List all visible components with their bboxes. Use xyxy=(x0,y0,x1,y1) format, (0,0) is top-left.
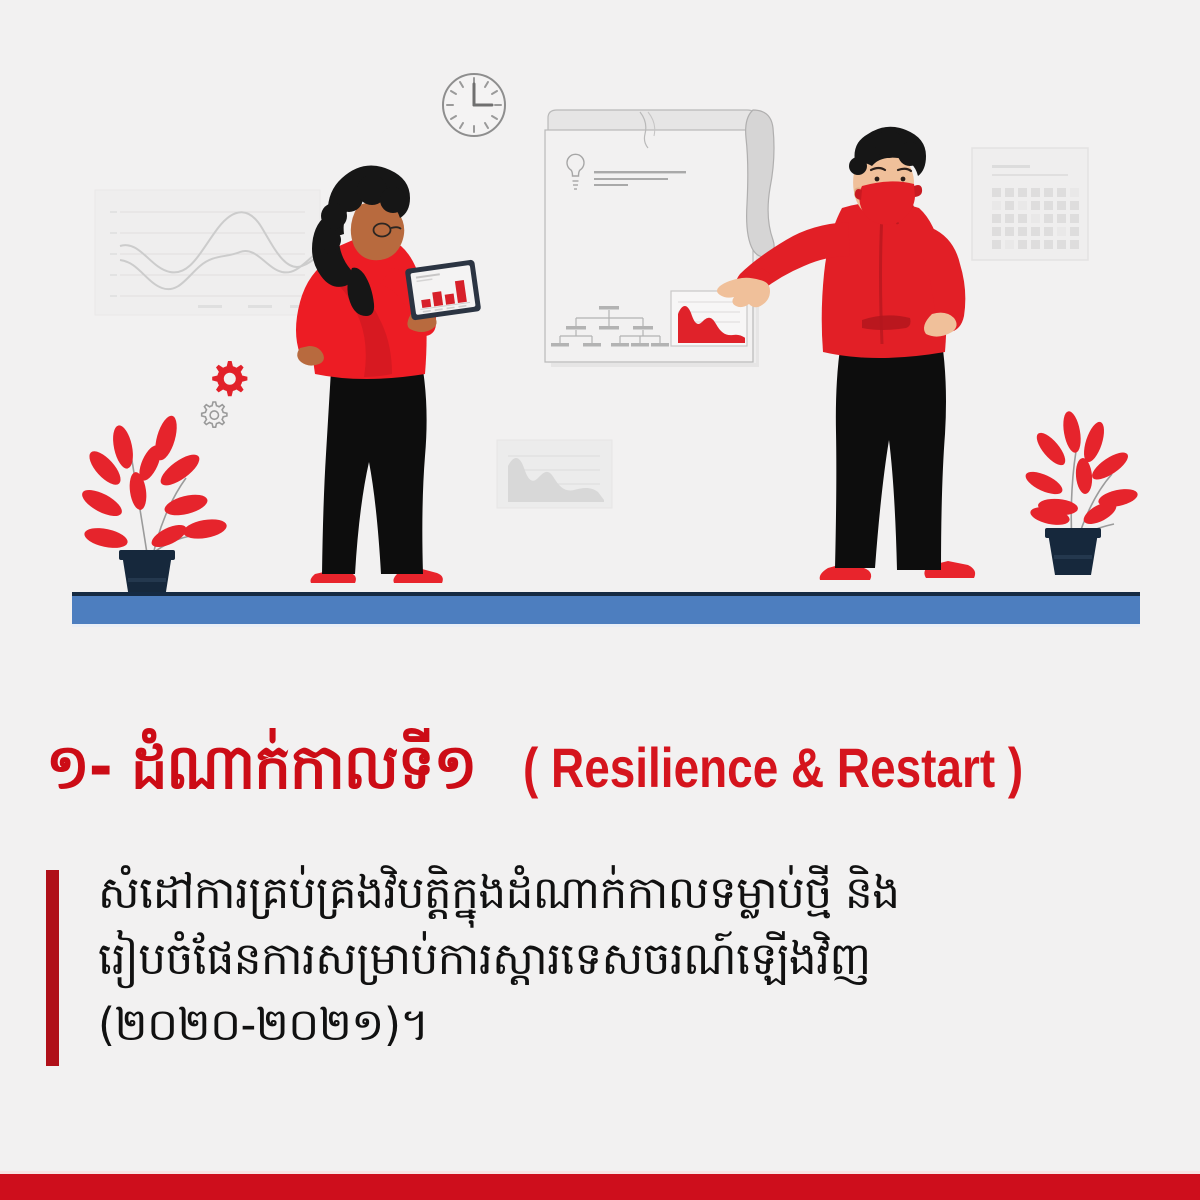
illustration-scene xyxy=(0,0,1200,660)
body-line-2: រៀបចំផែនការសម្រាប់ការស្តារទេសចរណ៍ឡើងវិញ xyxy=(98,926,1155,992)
accent-bar xyxy=(46,870,59,1066)
wall-clock-icon xyxy=(443,74,505,136)
bottom-red-bar xyxy=(0,1174,1200,1200)
body-line-1: សំដៅការគ្រប់គ្រងវិបត្តិក្នុងដំណាក់កាលទម្… xyxy=(98,860,1155,926)
gear-solid-icon xyxy=(212,361,247,396)
heading-khmer: ១- ដំណាក់កាលទី១ xyxy=(46,736,476,798)
tablet-device xyxy=(405,259,482,320)
body-line-3: (២០២០-២០២១)។ xyxy=(98,992,1155,1058)
small-area-chart-icon xyxy=(497,440,612,508)
text-block: ១- ដំណាក់កាលទី១ ( Resilience & Restart )… xyxy=(0,700,1200,1120)
heading-row: ១- ដំណាក់កាលទី១ ( Resilience & Restart ) xyxy=(46,718,1166,798)
infographic-page: ១- ដំណាក់កាលទី១ ( Resilience & Restart )… xyxy=(0,0,1200,1200)
wall-line-chart xyxy=(95,190,330,315)
heading-english: ( Resilience & Restart ) xyxy=(523,740,1023,798)
floor-bar xyxy=(72,592,1140,627)
flipchart-board xyxy=(545,110,774,367)
body-text: សំដៅការគ្រប់គ្រងវិបត្តិក្នុងដំណាក់កាលទម្… xyxy=(98,860,1155,1058)
wall-calendar-icon xyxy=(972,148,1088,260)
